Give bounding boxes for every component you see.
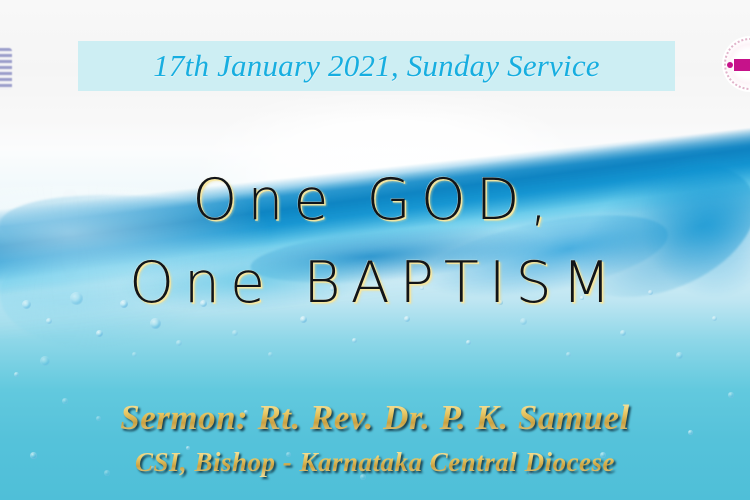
date-banner: 17th January 2021, Sunday Service [78, 41, 675, 91]
logo-dot [727, 62, 733, 68]
logo-bar [734, 59, 750, 71]
date-banner-text: 17th January 2021, Sunday Service [153, 48, 600, 84]
sermon-slide: 17th January 2021, Sunday Service One GO… [0, 0, 750, 500]
sermon-speaker-line: Sermon: Rt. Rev. Dr. P. K. Samuel [0, 398, 750, 438]
title-line-1: One GOD, [0, 172, 750, 229]
title-line-2: One BAPTISM [0, 255, 750, 312]
left-organization-logo-icon [0, 48, 12, 90]
sermon-affiliation-line: CSI, Bishop - Karnataka Central Diocese [0, 447, 750, 478]
title-block: One GOD, One BAPTISM [0, 172, 750, 312]
credits-block: Sermon: Rt. Rev. Dr. P. K. Samuel CSI, B… [0, 398, 750, 478]
